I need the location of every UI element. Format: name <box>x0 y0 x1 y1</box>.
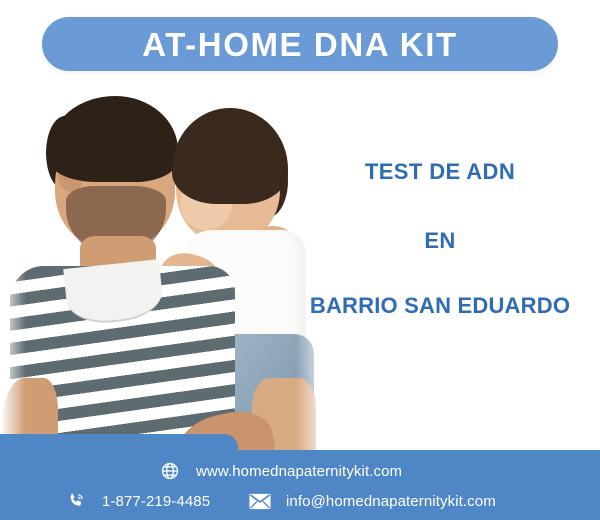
footer-email-row[interactable]: info@homednapaternitykit.com <box>248 490 496 512</box>
footer-phone-row[interactable]: 1-877-219-4485 <box>64 490 210 512</box>
headline-line-1: TEST DE ADN <box>290 160 590 183</box>
family-photo-image <box>0 78 330 478</box>
globe-icon <box>158 460 182 482</box>
page-title: AT-HOME DNA KIT <box>142 28 457 61</box>
dna-kit-banner: AT-HOME DNA KIT <box>0 0 600 520</box>
photo-shape-father-hair <box>50 96 178 182</box>
envelope-icon <box>248 490 272 512</box>
headline-line-3: BARRIO SAN EDUARDO <box>290 294 590 317</box>
headline-block: TEST DE ADN EN BARRIO SAN EDUARDO <box>290 160 590 317</box>
footer-website-row[interactable]: www.homednapaternitykit.com <box>158 460 402 482</box>
footer-website-label: www.homednapaternitykit.com <box>196 463 402 480</box>
phone-icon <box>64 490 88 512</box>
header-pill: AT-HOME DNA KIT <box>42 17 558 71</box>
footer-email-label: info@homednapaternitykit.com <box>286 493 496 510</box>
footer-phone-label: 1-877-219-4485 <box>102 493 210 510</box>
footer-bar: www.homednapaternitykit.com 1-877-219-44… <box>0 434 600 520</box>
family-photo <box>0 78 330 478</box>
photo-shape-child-hair <box>172 108 288 204</box>
headline-line-2: EN <box>290 229 590 252</box>
footer-contact-rows: www.homednapaternitykit.com 1-877-219-44… <box>0 434 600 520</box>
